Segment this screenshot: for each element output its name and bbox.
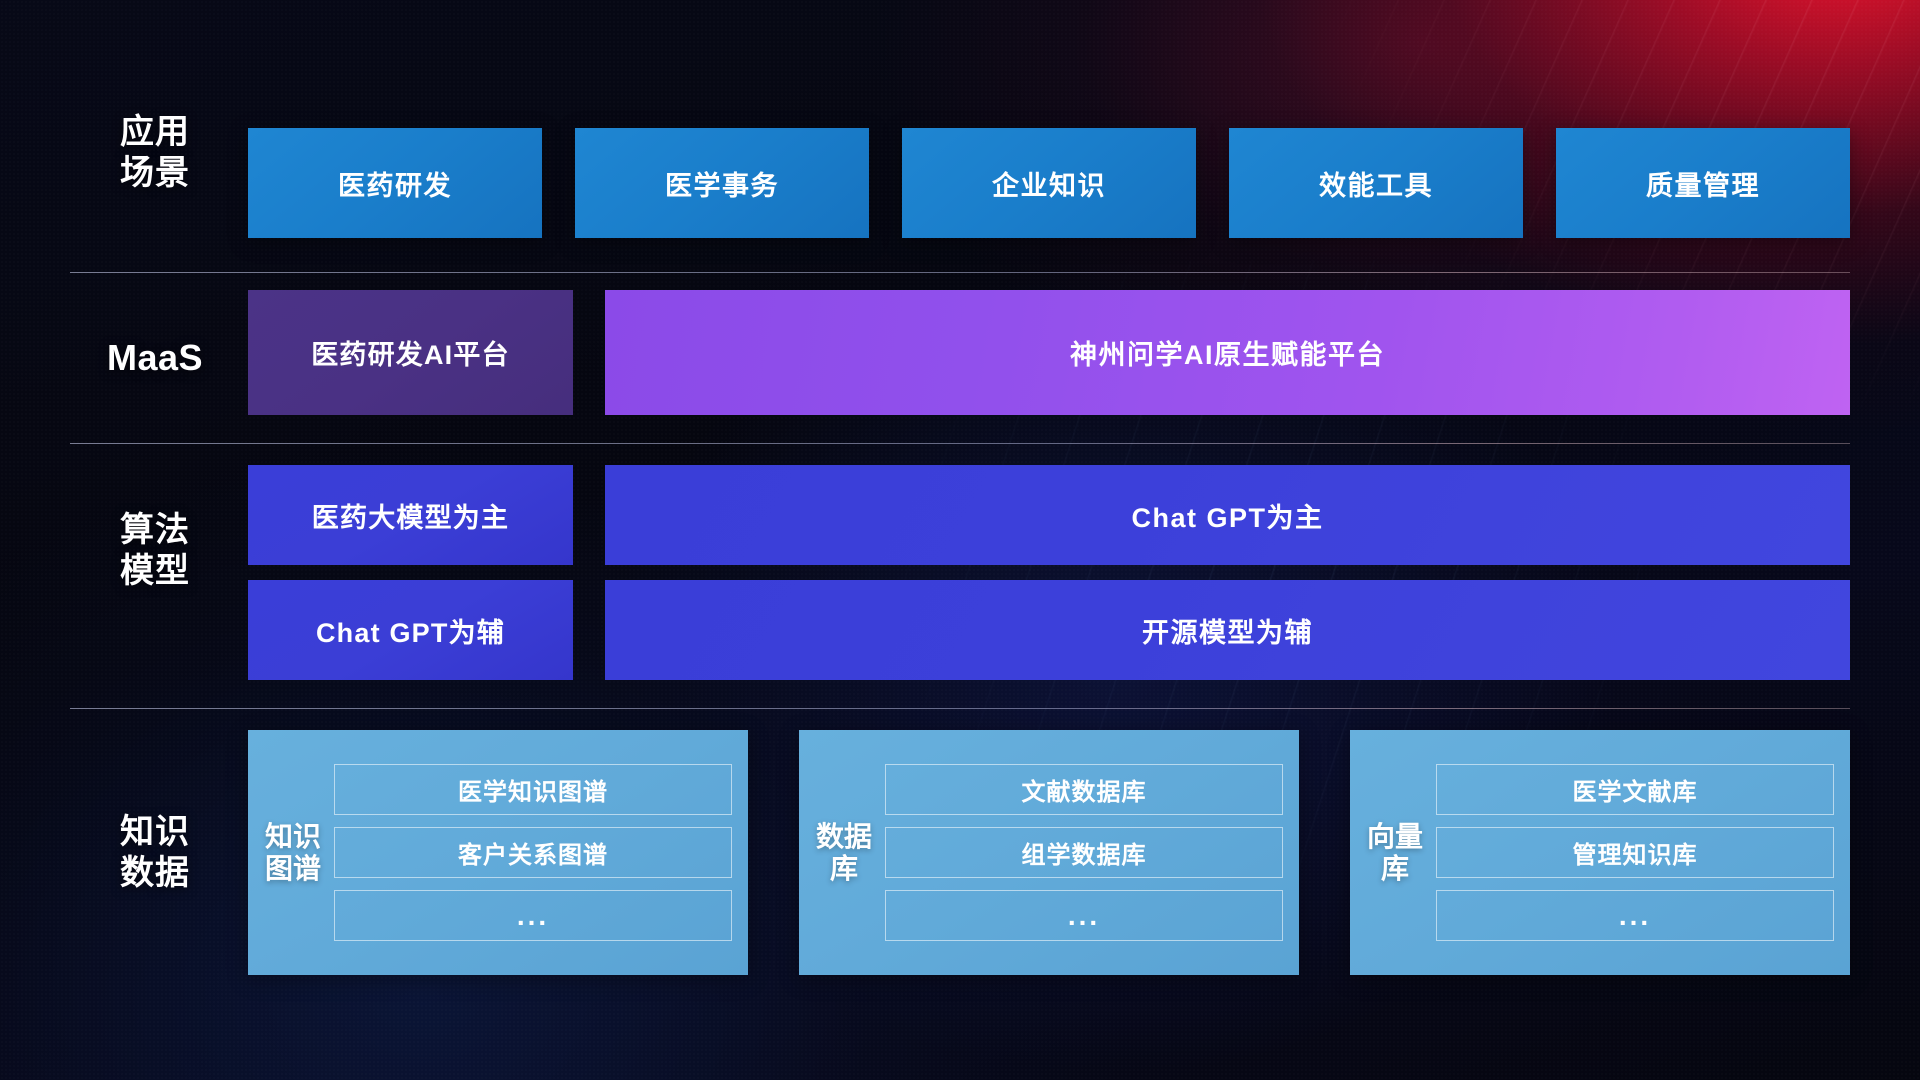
knowledge-group-items-knowledge-graph: 医学知识图谱 客户关系图谱 ... (334, 764, 732, 941)
ai-architecture-diagram: 应用 场景 医药研发 医学事务 企业知识 效能工具 质量管理 MaaS 医药研发… (0, 0, 1920, 1080)
maas-card-pharma-ai-platform[interactable]: 医药研发AI平台 (248, 290, 573, 415)
app-card-efficiency-tools[interactable]: 效能工具 (1229, 128, 1523, 238)
knowledge-group-title-database: 数据库 (813, 821, 875, 884)
maas-card-shenzhou-wenxue-platform[interactable]: 神州问学AI原生赋能平台 (605, 290, 1850, 415)
algorithm-secondary-row: Chat GPT为辅 开源模型为辅 (248, 580, 1850, 680)
row-label-algorithm-model: 算法 模型 (70, 510, 240, 593)
algorithm-primary-row: 医药大模型为主 Chat GPT为主 (248, 465, 1850, 565)
algo-card-chatgpt-primary[interactable]: Chat GPT为主 (605, 465, 1850, 565)
app-card-quality-management[interactable]: 质量管理 (1556, 128, 1850, 238)
knowledge-item-more-knowledge-graph[interactable]: ... (334, 890, 732, 941)
divider-maas-algorithm (70, 443, 1850, 444)
knowledge-group-title-knowledge-graph: 知识图谱 (262, 821, 324, 884)
knowledge-item-more-vector-store[interactable]: ... (1436, 890, 1834, 941)
row-label-knowledge-line1: 知识 (70, 812, 240, 853)
maas-row: 医药研发AI平台 神州问学AI原生赋能平台 (248, 290, 1850, 415)
knowledge-data-row: 知识图谱 医学知识图谱 客户关系图谱 ... 数据库 文献数据库 组学数据库 .… (248, 730, 1850, 975)
row-label-knowledge-line2: 数据 (70, 853, 240, 894)
knowledge-item-omics-database[interactable]: 组学数据库 (885, 827, 1283, 878)
knowledge-group-items-database: 文献数据库 组学数据库 ... (885, 764, 1283, 941)
knowledge-group-vector-store[interactable]: 向量库 医学文献库 管理知识库 ... (1350, 730, 1850, 975)
knowledge-group-database[interactable]: 数据库 文献数据库 组学数据库 ... (799, 730, 1299, 975)
algo-card-chatgpt-secondary[interactable]: Chat GPT为辅 (248, 580, 573, 680)
knowledge-item-management-knowledge-store[interactable]: 管理知识库 (1436, 827, 1834, 878)
row-label-algorithm-line1: 算法 (70, 510, 240, 551)
row-label-application-line2: 场景 (70, 153, 240, 194)
knowledge-item-medical-literature-store[interactable]: 医学文献库 (1436, 764, 1834, 815)
application-scenario-row: 医药研发 医学事务 企业知识 效能工具 质量管理 (248, 128, 1850, 238)
knowledge-item-more-database[interactable]: ... (885, 890, 1283, 941)
row-label-knowledge-data: 知识 数据 (70, 812, 240, 895)
knowledge-item-literature-database[interactable]: 文献数据库 (885, 764, 1283, 815)
row-label-maas: MaaS (70, 336, 240, 380)
algo-card-opensource-secondary[interactable]: 开源模型为辅 (605, 580, 1850, 680)
row-label-algorithm-line2: 模型 (70, 551, 240, 592)
app-card-enterprise-knowledge[interactable]: 企业知识 (902, 128, 1196, 238)
divider-algorithm-knowledge (70, 708, 1850, 709)
app-card-medical-affairs[interactable]: 医学事务 (575, 128, 869, 238)
row-label-application-line1: 应用 (70, 112, 240, 153)
knowledge-group-knowledge-graph[interactable]: 知识图谱 医学知识图谱 客户关系图谱 ... (248, 730, 748, 975)
divider-application-maas (70, 272, 1850, 273)
knowledge-item-medical-knowledge-graph[interactable]: 医学知识图谱 (334, 764, 732, 815)
knowledge-group-title-vector-store: 向量库 (1364, 821, 1426, 884)
row-label-application-scenario: 应用 场景 (70, 112, 240, 195)
knowledge-item-customer-relation-graph[interactable]: 客户关系图谱 (334, 827, 732, 878)
knowledge-group-items-vector-store: 医学文献库 管理知识库 ... (1436, 764, 1834, 941)
algo-card-pharma-large-model-primary[interactable]: 医药大模型为主 (248, 465, 573, 565)
app-card-medicine-rd[interactable]: 医药研发 (248, 128, 542, 238)
